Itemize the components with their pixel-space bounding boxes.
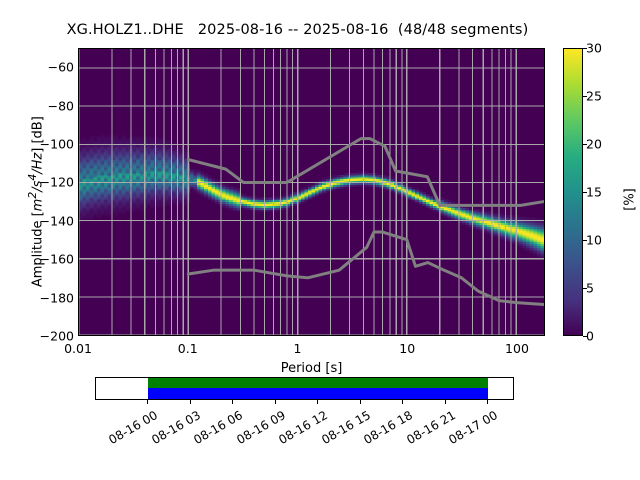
colorbar-tick-label: 15 — [586, 185, 602, 200]
colorbar-tick-mark — [583, 288, 587, 289]
colorbar-tick-mark — [583, 96, 587, 97]
colorbar-tick-mark — [583, 144, 587, 145]
coverage-tick-labels: 08-16 0008-16 0308-16 0608-16 0908-16 12… — [95, 404, 535, 474]
colorbar-tick-label: 0 — [586, 329, 594, 344]
y-axis-title: Amplitude [m2/s4/Hz] [dB] — [26, 72, 45, 332]
x-axis-ticks: 0.010.1110100 — [78, 341, 545, 361]
colorbar-tick-label: 20 — [586, 137, 602, 152]
ppsd-canvas — [79, 49, 544, 335]
ppsd-histogram — [79, 135, 544, 260]
ppsd-plot-area[interactable] — [78, 48, 545, 336]
colorbar-tick-label: 5 — [586, 281, 594, 296]
x-tick-label: 0.1 — [153, 341, 223, 356]
x-tick-label: 100 — [482, 341, 552, 356]
x-tick-label: 0.01 — [43, 341, 113, 356]
x-tick-label: 10 — [372, 341, 442, 356]
colorbar-tick-label: 25 — [586, 89, 602, 104]
colorbar[interactable] — [563, 48, 583, 336]
coverage-psd-band — [148, 388, 488, 399]
colorbar-unit-label: [%] — [623, 170, 638, 230]
coverage-data-band — [148, 378, 488, 388]
colorbar-tick-label: 30 — [586, 41, 602, 56]
colorbar-tick-mark — [583, 48, 587, 49]
colorbar-tick-mark — [583, 192, 587, 193]
y-axis-title-text: Amplitude [m2/s4/Hz] [dB] — [31, 116, 46, 287]
x-tick-label: 1 — [262, 341, 332, 356]
time-coverage-bar[interactable] — [95, 377, 514, 400]
x-axis-title: Period [s] — [78, 361, 545, 376]
colorbar-tick-label: 10 — [586, 233, 602, 248]
colorbar-tick-mark — [583, 240, 587, 241]
page-title: XG.HOLZ1..DHE 2025-08-16 -- 2025-08-16 (… — [0, 22, 595, 38]
colorbar-ticks: 051015202530 — [586, 48, 616, 336]
colorbar-tick-mark — [583, 336, 587, 337]
